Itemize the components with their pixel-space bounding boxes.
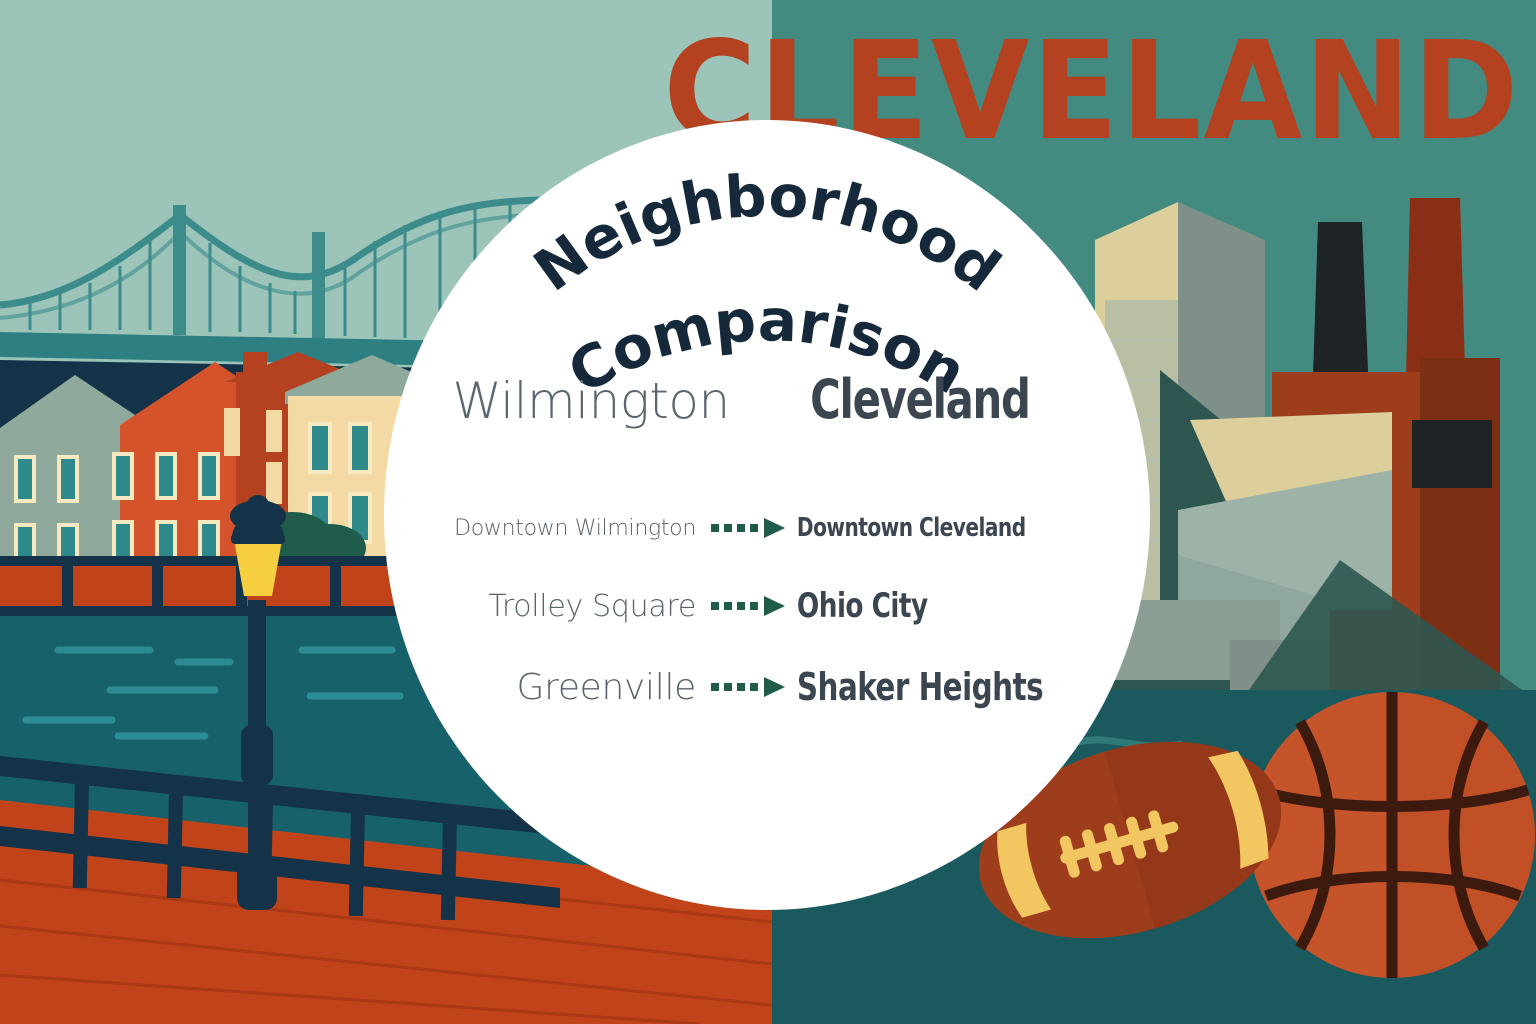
comparison-row: Trolley Square Ohio City <box>384 576 1150 636</box>
row-right-label: Downtown Cleveland <box>790 513 1100 543</box>
basketball-icon <box>1249 692 1535 978</box>
comparison-rows: Downtown Wilmington Downtown Cleveland T… <box>384 500 1150 738</box>
row-right-label: Ohio City <box>790 586 1100 626</box>
dotted-arrow-icon <box>706 517 790 539</box>
row-right-label: Shaker Heights <box>790 665 1100 709</box>
comparison-row: Greenville Shaker Heights <box>384 656 1150 718</box>
comparison-row: Downtown Wilmington Downtown Cleveland <box>384 500 1150 556</box>
column-header-cleveland: Cleveland <box>778 368 1062 431</box>
row-left-label: Greenville <box>384 667 706 708</box>
column-header-wilmington: Wilmington <box>426 372 756 430</box>
poster-canvas: CLEVELAND Neighborhood Comparison Wilmin… <box>0 0 1536 1024</box>
row-left-label: Trolley Square <box>384 589 706 624</box>
svg-text:Neighborhood: Neighborhood <box>522 161 1013 304</box>
row-left-label: Downtown Wilmington <box>384 516 706 541</box>
dotted-arrow-icon <box>706 676 790 698</box>
title-line-1: Neighborhood <box>522 161 1013 304</box>
dotted-arrow-icon <box>706 595 790 617</box>
column-headers: Wilmington Cleveland <box>384 368 1150 431</box>
